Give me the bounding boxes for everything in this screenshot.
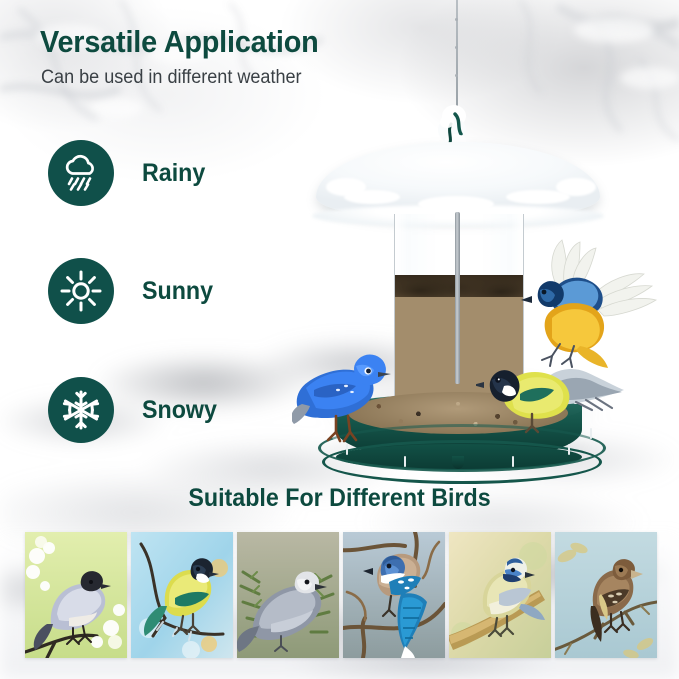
bird-photo-strip <box>25 532 657 658</box>
section-title-text: Suitable For Different Birds <box>188 486 490 511</box>
great-tit-on-branch <box>131 532 233 658</box>
bird-feeder-product <box>0 0 679 520</box>
bluebird-perched-left <box>292 338 400 450</box>
snow-clump <box>326 178 366 196</box>
blue-jay-on-branch <box>343 532 445 658</box>
bird-panel-hawfinch[interactable] <box>555 532 657 658</box>
snow-clump <box>418 196 494 212</box>
chain-link <box>455 46 458 49</box>
bird-panel-gray-jay[interactable] <box>237 532 339 658</box>
hawfinch-on-branch <box>555 532 657 658</box>
chain-link <box>455 74 458 77</box>
center-metal-rod <box>455 212 460 384</box>
bird-panel-chickadee[interactable] <box>25 532 127 658</box>
gray-jay-on-conifer <box>237 532 339 658</box>
section-title: Suitable For Different Birds <box>0 486 679 511</box>
bird-panel-blue-jay[interactable] <box>343 532 445 658</box>
bird-panel-great-tit[interactable] <box>131 532 233 658</box>
drain-nub <box>452 456 464 469</box>
blue-yellow-bird-in-flight <box>508 236 672 368</box>
product-infographic: Versatile Application Can be used in dif… <box>0 0 679 679</box>
chickadee-on-blossom-branch <box>25 532 127 658</box>
blue-tit-on-branch <box>449 532 551 658</box>
hanging-chain <box>456 0 458 108</box>
bird-panel-blue-tit[interactable] <box>449 532 551 658</box>
snow-clump <box>556 178 596 196</box>
chain-link <box>455 18 458 21</box>
